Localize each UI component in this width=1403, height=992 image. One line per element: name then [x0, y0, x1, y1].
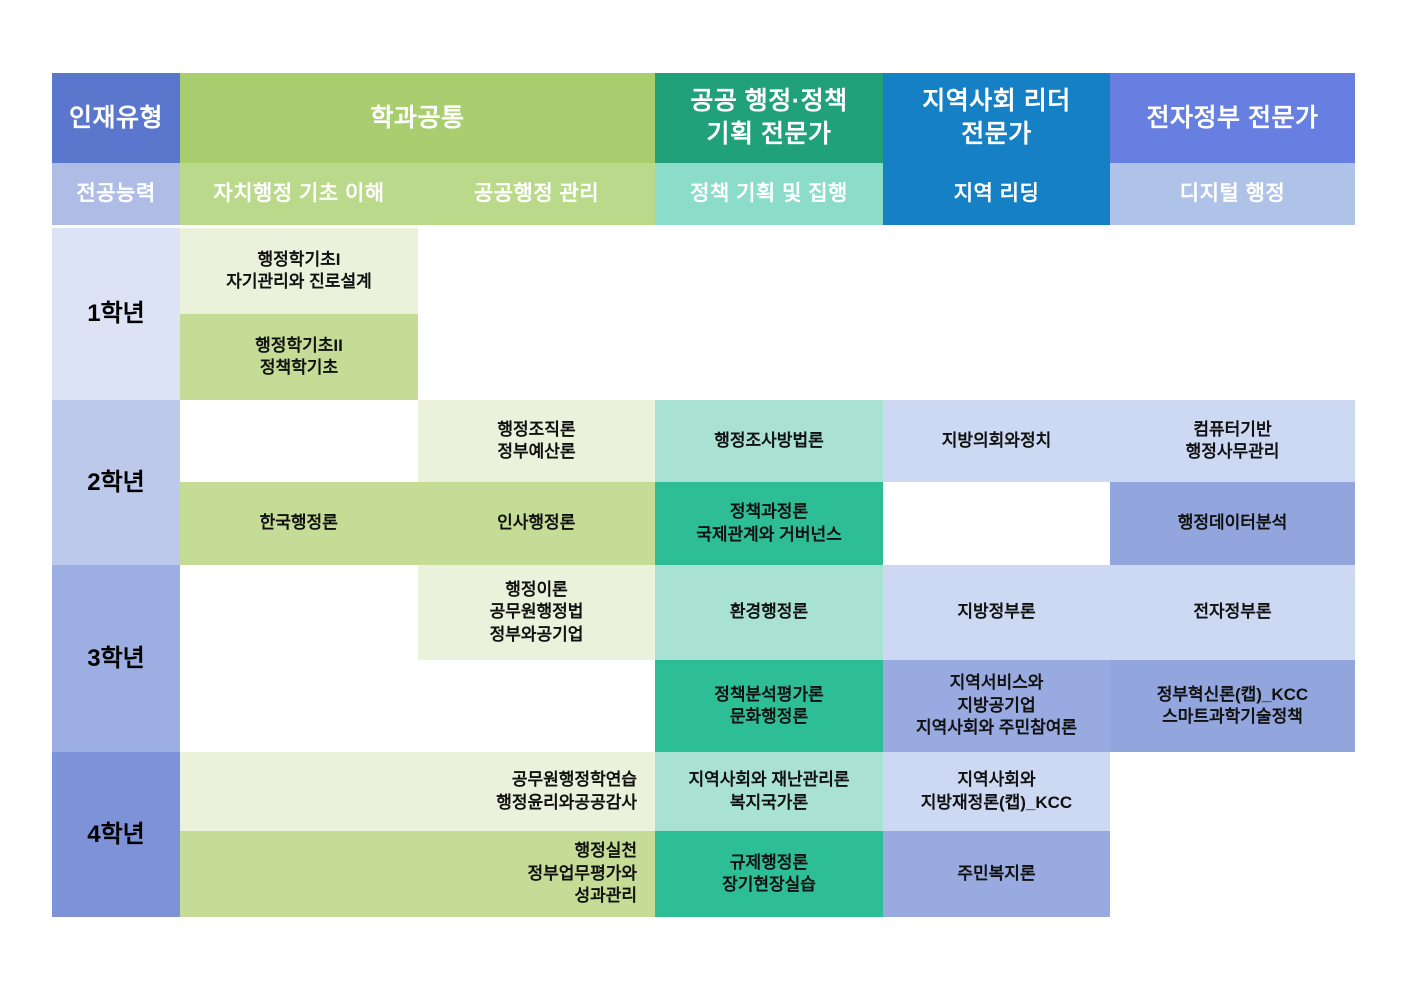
- course-name: 정부업무평가와: [528, 863, 637, 885]
- course-name: 공무원행정학연습: [512, 769, 637, 791]
- course-name: 정부예산론: [497, 441, 575, 463]
- header-competency-digital: 디지털 행정: [1110, 163, 1355, 225]
- course-cell-y3-leader-a: 지방정부론: [883, 565, 1110, 660]
- course-name: 지방정부론: [957, 601, 1035, 623]
- course-cell-y3-policy-b: 정책분석평가론문화행정론: [655, 660, 883, 752]
- text-line: 학과공통: [370, 102, 464, 135]
- course-name: 인사행정론: [497, 512, 575, 534]
- header-competency-basic: 자치행정 기초 이해: [180, 163, 418, 225]
- course-name: 규제행정론: [730, 852, 808, 874]
- course-cell-y4-policy-a: 지역사회와 재난관리론복지국가론: [655, 752, 883, 831]
- course-name: 스마트과학기술정책: [1162, 706, 1303, 728]
- header-corner-competency: 전공능력: [52, 163, 180, 225]
- course-name: 지역사회와: [957, 769, 1035, 791]
- course-cell-y4-manage-b: 행정실천정부업무평가와성과관리: [180, 831, 655, 917]
- course-cell-y2-policy-b: 정책과정론국제관계와 거버넌스: [655, 482, 883, 565]
- course-name: 행정윤리와공공감사: [496, 792, 637, 814]
- curriculum-matrix: 인재유형 학과공통 공공 행정·정책기획 전문가 지역사회 리더전문가 전자정부…: [52, 73, 1355, 917]
- course-name: 행정사무관리: [1186, 441, 1280, 463]
- course-cell-y2-egov-a: 컴퓨터기반행정사무관리: [1110, 400, 1355, 482]
- year-label-1: 1학년: [52, 228, 180, 400]
- course-name: 지역사회와 주민참여론: [916, 717, 1077, 739]
- year-label-4: 4학년: [52, 752, 180, 917]
- text-line: 지역사회 리더: [922, 85, 1070, 118]
- course-cell-y3-manage-a: 행정이론공무원행정법정부와공기업: [418, 565, 655, 660]
- header-group-leader: 지역사회 리더전문가: [883, 73, 1110, 163]
- course-name: 한국행정론: [260, 512, 338, 534]
- course-name: 복지국가론: [730, 792, 808, 814]
- course-cell-y3-egov-a: 전자정부론: [1110, 565, 1355, 660]
- course-cell-y1-common-b: 행정학기초II정책학기초: [180, 314, 418, 400]
- course-cell-y4-manage-a: 공무원행정학연습행정윤리와공공감사: [180, 752, 655, 831]
- course-name: 환경행정론: [730, 601, 808, 623]
- course-name: 행정조직론: [497, 419, 575, 441]
- course-name: 지방공기업: [957, 695, 1035, 717]
- course-cell-y3-leader-b: 지역서비스와지방공기업지역사회와 주민참여론: [883, 660, 1110, 752]
- course-name: 지역서비스와: [950, 672, 1044, 694]
- course-name: 행정학기초II: [255, 335, 343, 357]
- course-cell-y3-egov-b: 정부혁신론(캡)_KCC스마트과학기술정책: [1110, 660, 1355, 752]
- course-name: 정책분석평가론: [714, 684, 823, 706]
- course-name: 지방의회와정치: [942, 430, 1051, 452]
- course-name: 장기현장실습: [722, 874, 816, 896]
- course-cell-y1-common-a: 행정학기초I자기관리와 진로설계: [180, 228, 418, 314]
- course-cell-y3-policy-a: 환경행정론: [655, 565, 883, 660]
- text-line: 전자정부 전문가: [1147, 102, 1319, 135]
- course-cell-y2-common-b: 한국행정론 인사행정론: [180, 482, 655, 565]
- course-cell-y2-manage-a: 행정조직론정부예산론: [418, 400, 655, 482]
- course-cell-y2-leader-a: 지방의회와정치: [883, 400, 1110, 482]
- header-competency-manage: 공공행정 관리: [418, 163, 655, 225]
- course-name: 행정학기초I: [258, 249, 341, 271]
- header-group-common: 학과공통: [180, 73, 655, 163]
- course-name: 지방재정론(캡)_KCC: [921, 792, 1072, 814]
- course-name: 정책과정론: [730, 501, 808, 523]
- course-name: 자기관리와 진로설계: [226, 271, 371, 293]
- header-group-egov: 전자정부 전문가: [1110, 73, 1355, 163]
- course-name: 행정이론: [505, 579, 568, 601]
- course-name: 행정조사방법론: [714, 430, 823, 452]
- course-name: 지역사회와 재난관리론: [688, 769, 849, 791]
- course-name: 정부와공기업: [490, 624, 584, 646]
- course-cell-y2-policy-a: 행정조사방법론: [655, 400, 883, 482]
- year-label-2: 2학년: [52, 400, 180, 565]
- text-line: 공공 행정·정책: [690, 85, 847, 118]
- text-line: 기획 전문가: [707, 118, 832, 151]
- course-name: 국제관계와 거버넌스: [696, 524, 841, 546]
- course-y2-manage-b: 인사행정론: [497, 512, 575, 534]
- course-cell-y4-leader-a: 지역사회와지방재정론(캡)_KCC: [883, 752, 1110, 831]
- course-name: 문화행정론: [730, 706, 808, 728]
- course-name: 주민복지론: [957, 863, 1035, 885]
- course-name: 전자정부론: [1193, 601, 1271, 623]
- course-cell-y4-leader-b: 주민복지론: [883, 831, 1110, 917]
- header-group-policy: 공공 행정·정책기획 전문가: [655, 73, 883, 163]
- header-corner-type: 인재유형: [52, 73, 180, 163]
- course-name: 성과관리: [574, 885, 637, 907]
- course-y2-basic-b: 한국행정론: [260, 512, 338, 534]
- text-line: 전문가: [961, 118, 1032, 151]
- course-cell-y2-egov-b: 행정데이터분석: [1110, 482, 1355, 565]
- course-name: 행정실천: [574, 840, 637, 862]
- header-competency-leader: 지역 리딩: [883, 163, 1110, 225]
- course-name: 정책학기초: [260, 357, 338, 379]
- course-name: 정부혁신론(캡)_KCC: [1157, 684, 1308, 706]
- course-name: 공무원행정법: [490, 601, 584, 623]
- course-cell-y4-policy-b: 규제행정론장기현장실습: [655, 831, 883, 917]
- course-name: 행정데이터분석: [1178, 512, 1287, 534]
- year-label-3: 3학년: [52, 565, 180, 752]
- header-competency-policy: 정책 기획 및 집행: [655, 163, 883, 225]
- course-name: 컴퓨터기반: [1193, 419, 1271, 441]
